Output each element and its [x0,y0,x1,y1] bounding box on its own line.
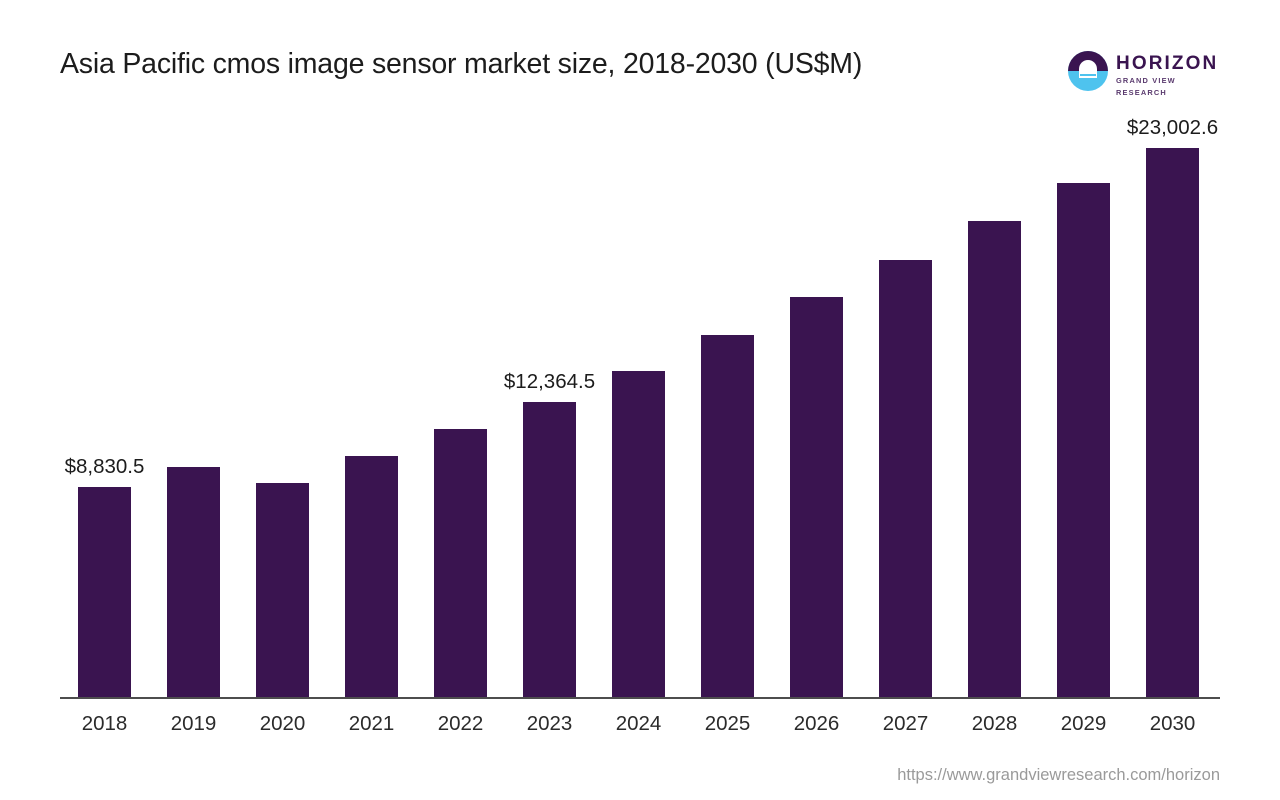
bar-2024 [612,371,665,698]
x-tick-2019: 2019 [144,712,244,736]
x-axis-tick-labels: 2018201920202021202220232024202520262027… [0,712,1280,746]
x-axis-line [60,697,1220,699]
bar-chart-plot-area: $8,830.5$12,364.5$23,002.6 [0,0,1280,710]
bar-2022 [434,429,487,698]
bar-2019 [167,467,220,698]
x-tick-2018: 2018 [55,712,155,736]
x-tick-2020: 2020 [233,712,333,736]
bars-layer: $8,830.5$12,364.5$23,002.6 [0,0,1280,698]
x-tick-2022: 2022 [411,712,511,736]
x-tick-2029: 2029 [1034,712,1134,736]
x-tick-2026: 2026 [767,712,867,736]
bar-2030 [1146,148,1199,698]
x-tick-2023: 2023 [500,712,600,736]
bar-2023 [523,402,576,698]
bar-2018 [78,487,131,698]
bar-2029 [1057,183,1110,698]
source-url: https://www.grandviewresearch.com/horizo… [897,766,1220,785]
x-tick-2030: 2030 [1123,712,1223,736]
x-tick-2024: 2024 [589,712,689,736]
bar-2020 [256,483,309,698]
bar-2027 [879,260,932,698]
x-tick-2021: 2021 [322,712,422,736]
bar-value-label-2030: $23,002.6 [1083,116,1263,140]
bar-2025 [701,335,754,698]
x-tick-2027: 2027 [856,712,956,736]
bar-2028 [968,221,1021,698]
bar-2026 [790,297,843,698]
x-tick-2028: 2028 [945,712,1045,736]
x-tick-2025: 2025 [678,712,778,736]
bar-2021 [345,456,398,698]
